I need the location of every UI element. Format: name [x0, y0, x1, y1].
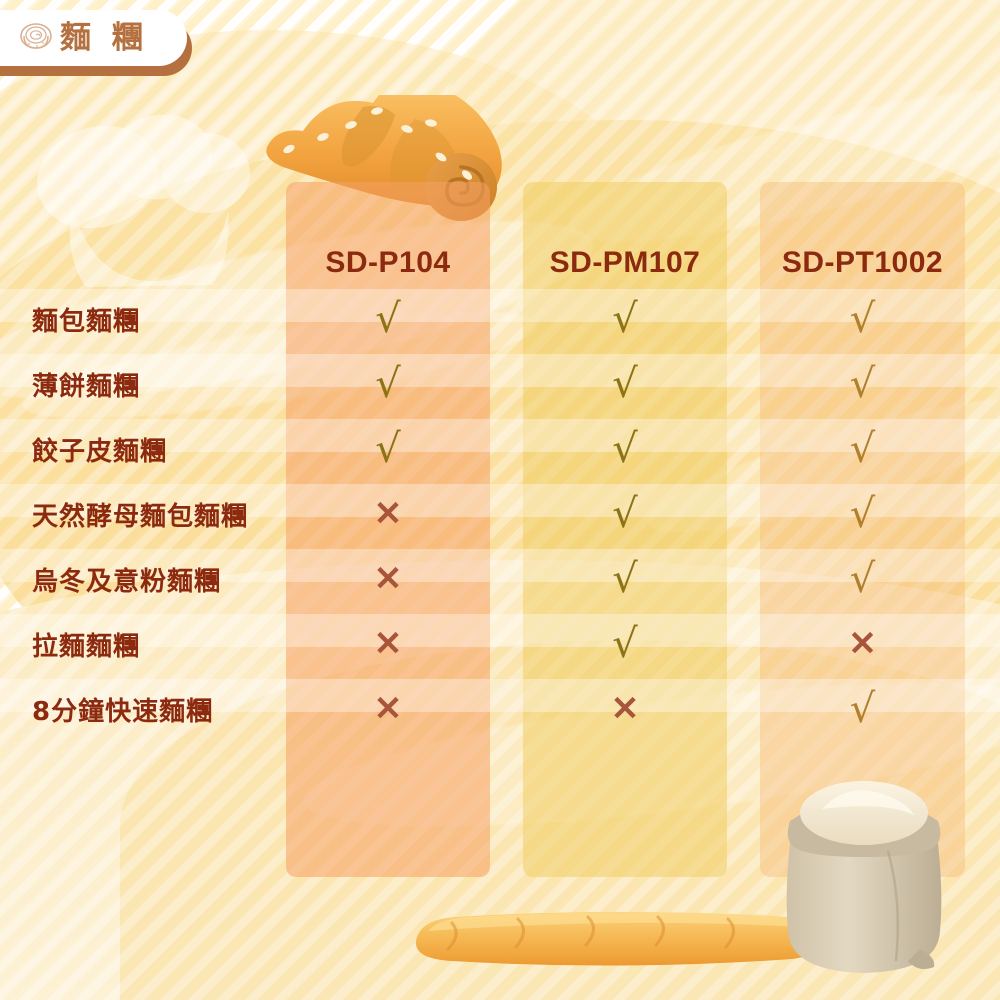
- check-glyph: √: [612, 624, 638, 664]
- column-header-1: SD-P104: [286, 237, 490, 289]
- check-glyph: √: [612, 429, 638, 469]
- row-label: 餃子皮麵糰: [32, 427, 167, 471]
- cinnamon-roll-icon: [16, 18, 56, 58]
- check-glyph: √: [612, 299, 638, 339]
- column-header-3: SD-PT1002: [760, 237, 965, 289]
- cross-glyph: ✕: [374, 497, 403, 531]
- check-glyph: √: [612, 559, 638, 599]
- check-glyph: √: [612, 364, 638, 404]
- check-icon: √: [523, 622, 727, 666]
- cross-icon: ✕: [760, 622, 965, 666]
- check-glyph: √: [375, 429, 401, 469]
- check-glyph: √: [850, 689, 876, 729]
- check-icon: √: [286, 297, 490, 341]
- cross-icon: ✕: [286, 622, 490, 666]
- cross-icon: ✕: [286, 492, 490, 536]
- check-glyph: √: [612, 494, 638, 534]
- check-icon: √: [523, 492, 727, 536]
- check-glyph: √: [850, 364, 876, 404]
- row-label: 烏冬及意粉麵糰: [32, 557, 221, 601]
- check-icon: √: [760, 297, 965, 341]
- check-icon: √: [523, 427, 727, 471]
- check-icon: √: [760, 557, 965, 601]
- row-label: 薄餅麵糰: [32, 362, 140, 406]
- comparison-infographic: SD-P104SD-PM107SD-PT1002麵包麵糰√√√薄餅麵糰√√√餃子…: [0, 0, 1000, 1000]
- check-icon: √: [523, 297, 727, 341]
- row-label: 拉麵麵糰: [32, 622, 140, 666]
- cross-icon: ✕: [286, 557, 490, 601]
- cross-glyph: ✕: [374, 562, 403, 596]
- check-icon: √: [760, 492, 965, 536]
- check-icon: √: [760, 687, 965, 731]
- cross-icon: ✕: [286, 687, 490, 731]
- column-header-2: SD-PM107: [523, 237, 727, 289]
- check-glyph: √: [375, 364, 401, 404]
- check-glyph: √: [375, 299, 401, 339]
- row-label: 麵包麵糰: [32, 297, 140, 341]
- cross-glyph: ✕: [848, 627, 877, 661]
- cross-glyph: ✕: [611, 692, 640, 726]
- logo-badge-label: 麵 糰: [60, 23, 148, 54]
- comparison-table: SD-P104SD-PM107SD-PT1002麵包麵糰√√√薄餅麵糰√√√餃子…: [0, 0, 1000, 1000]
- check-icon: √: [760, 427, 965, 471]
- cross-icon: ✕: [523, 687, 727, 731]
- check-icon: √: [523, 362, 727, 406]
- check-icon: √: [523, 557, 727, 601]
- check-icon: √: [286, 427, 490, 471]
- cross-glyph: ✕: [374, 692, 403, 726]
- check-glyph: √: [850, 429, 876, 469]
- logo-badge-pill: 麵 糰: [0, 10, 187, 66]
- row-label: 8分鐘快速麵糰: [32, 687, 213, 731]
- cross-glyph: ✕: [374, 627, 403, 661]
- check-glyph: √: [850, 559, 876, 599]
- check-glyph: √: [850, 494, 876, 534]
- row-label: 天然酵母麵包麵糰: [32, 492, 248, 536]
- check-icon: √: [286, 362, 490, 406]
- check-icon: √: [760, 362, 965, 406]
- check-glyph: √: [850, 299, 876, 339]
